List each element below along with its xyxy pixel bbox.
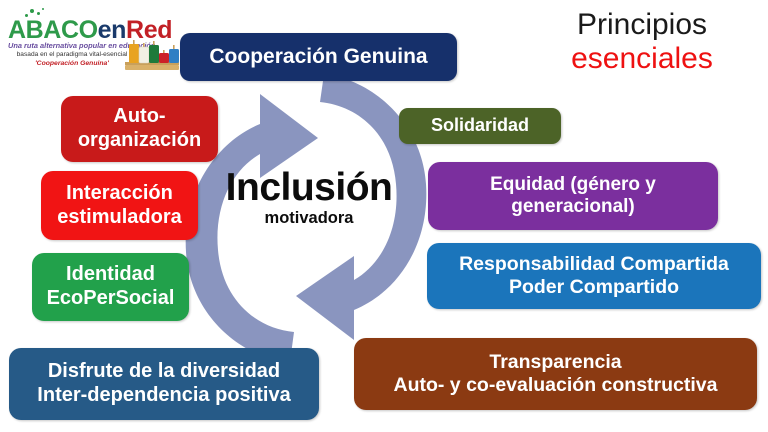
- page-title: Principios esenciales: [520, 8, 764, 75]
- solidaridad-box[interactable]: Solidaridad: [399, 108, 561, 144]
- cooperacion-genuina-box[interactable]: Cooperación Genuina: [180, 33, 457, 81]
- transparencia-box[interactable]: Transparencia Auto- y co-evaluación cons…: [354, 338, 757, 410]
- box-line: Disfrute de la diversidad: [37, 360, 290, 384]
- abacoenred-logo: ABACOenRed Una ruta alternativa popular …: [6, 4, 182, 74]
- box-line: generacional): [490, 196, 656, 218]
- identidad-ecopersocial-box[interactable]: Identidad EcoPerSocial: [32, 253, 189, 321]
- logo-word-abaco: ABACO: [8, 16, 98, 44]
- box-line: EcoPerSocial: [47, 287, 175, 311]
- box-line: Cooperación Genuina: [209, 45, 427, 70]
- box-line: Equidad (género y: [490, 174, 656, 196]
- box-line: organización: [78, 129, 201, 153]
- auto-organizacion-box[interactable]: Auto- organización: [61, 96, 218, 162]
- box-line: Auto-: [78, 105, 201, 129]
- box-line: Transparencia: [394, 351, 718, 374]
- interaccion-estimuladora-box[interactable]: Interacción estimuladora: [41, 171, 198, 240]
- page-title-line-2: esenciales: [520, 42, 764, 76]
- disfrute-diversidad-box[interactable]: Disfrute de la diversidad Inter-dependen…: [9, 348, 319, 420]
- box-line: Responsabilidad Compartida: [459, 253, 729, 276]
- box-line: Interacción: [57, 182, 181, 206]
- logo-tagline-2: basada en el paradigma vital-esencial: [8, 51, 136, 58]
- logo-word-en: en: [98, 16, 126, 44]
- box-line: Inter-dependencia positiva: [37, 384, 290, 408]
- logo-tagline-1: Una ruta alternativa popular en educació…: [8, 41, 136, 50]
- box-line: Poder Compartido: [459, 276, 729, 299]
- box-line: Solidaridad: [431, 115, 529, 136]
- equidad-box[interactable]: Equidad (género y generacional): [428, 162, 718, 230]
- page-title-line-1: Principios: [520, 8, 764, 42]
- slide-canvas: ABACOenRed Una ruta alternativa popular …: [0, 0, 768, 432]
- box-line: Identidad: [47, 263, 175, 287]
- box-line: estimuladora: [57, 206, 181, 230]
- box-line: Auto- y co-evaluación constructiva: [394, 374, 718, 397]
- responsabilidad-compartida-box[interactable]: Responsabilidad Compartida Poder Compart…: [427, 243, 761, 309]
- logo-tagline-3: 'Cooperación Genuina': [8, 60, 136, 67]
